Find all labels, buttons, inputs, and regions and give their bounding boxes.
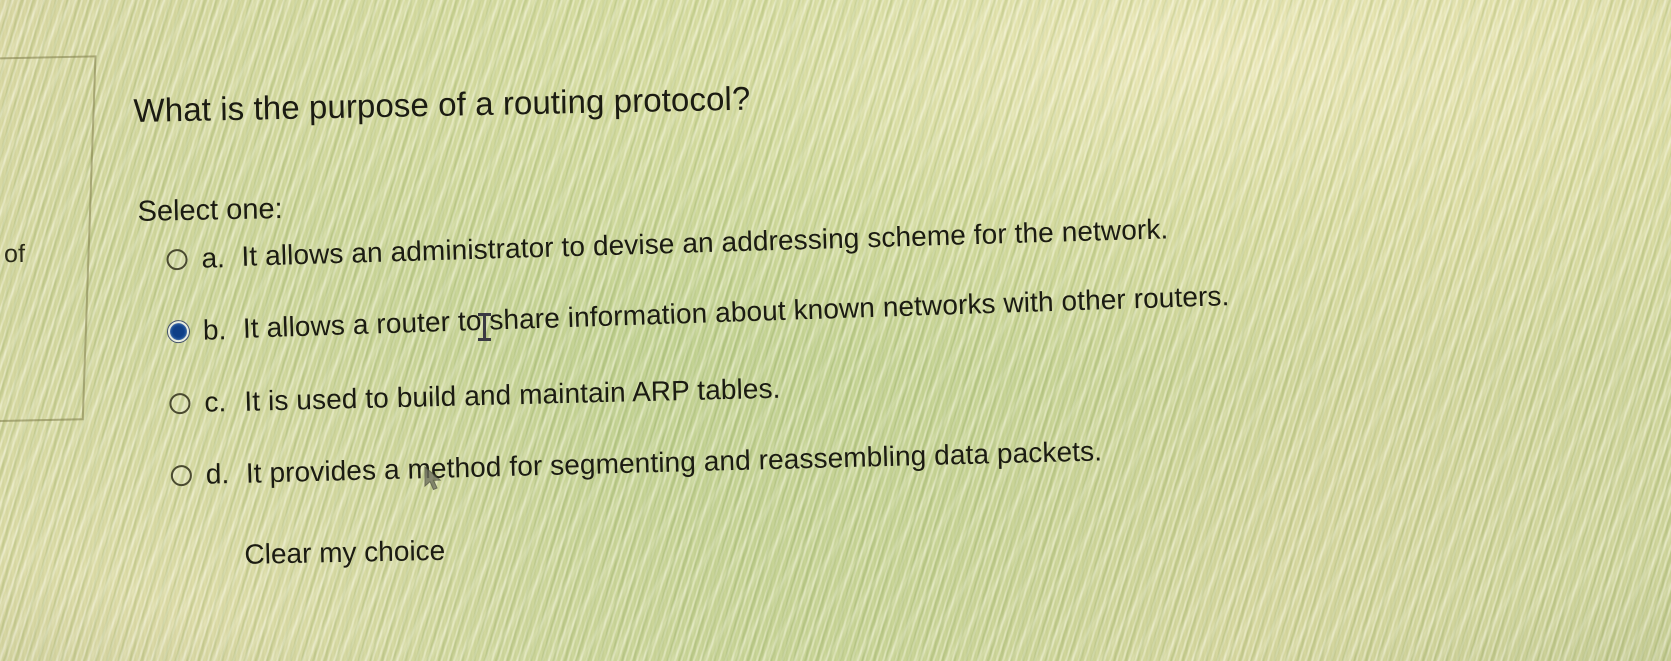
answer-options-list: a. It allows an administrator to devise … [166,214,1651,532]
option-letter-b: b. [203,314,244,347]
radio-button-b[interactable] [168,321,189,342]
question-text: What is the purpose of a routing protoco… [133,80,751,130]
question-content: What is the purpose of a routing protoco… [0,0,1671,661]
radio-button-c[interactable] [169,393,190,414]
i-beam-bottom-serif [478,338,491,341]
i-beam-stem [483,315,486,340]
radio-button-d[interactable] [171,465,192,486]
option-letter-d: d. [206,458,247,491]
option-letter-a: a. [201,242,242,275]
radio-button-a[interactable] [166,249,187,270]
option-letter-c: c. [204,386,245,419]
option-text-a[interactable]: It allows an administrator to devise an … [241,199,1646,273]
clear-my-choice-link[interactable]: Clear my choice [244,535,445,571]
screen-photo: of What is the purpose of a routing prot… [0,0,1671,661]
select-one-prompt: Select one: [137,193,283,229]
arrow-cursor-icon [423,466,445,494]
i-beam-cursor [478,312,491,342]
